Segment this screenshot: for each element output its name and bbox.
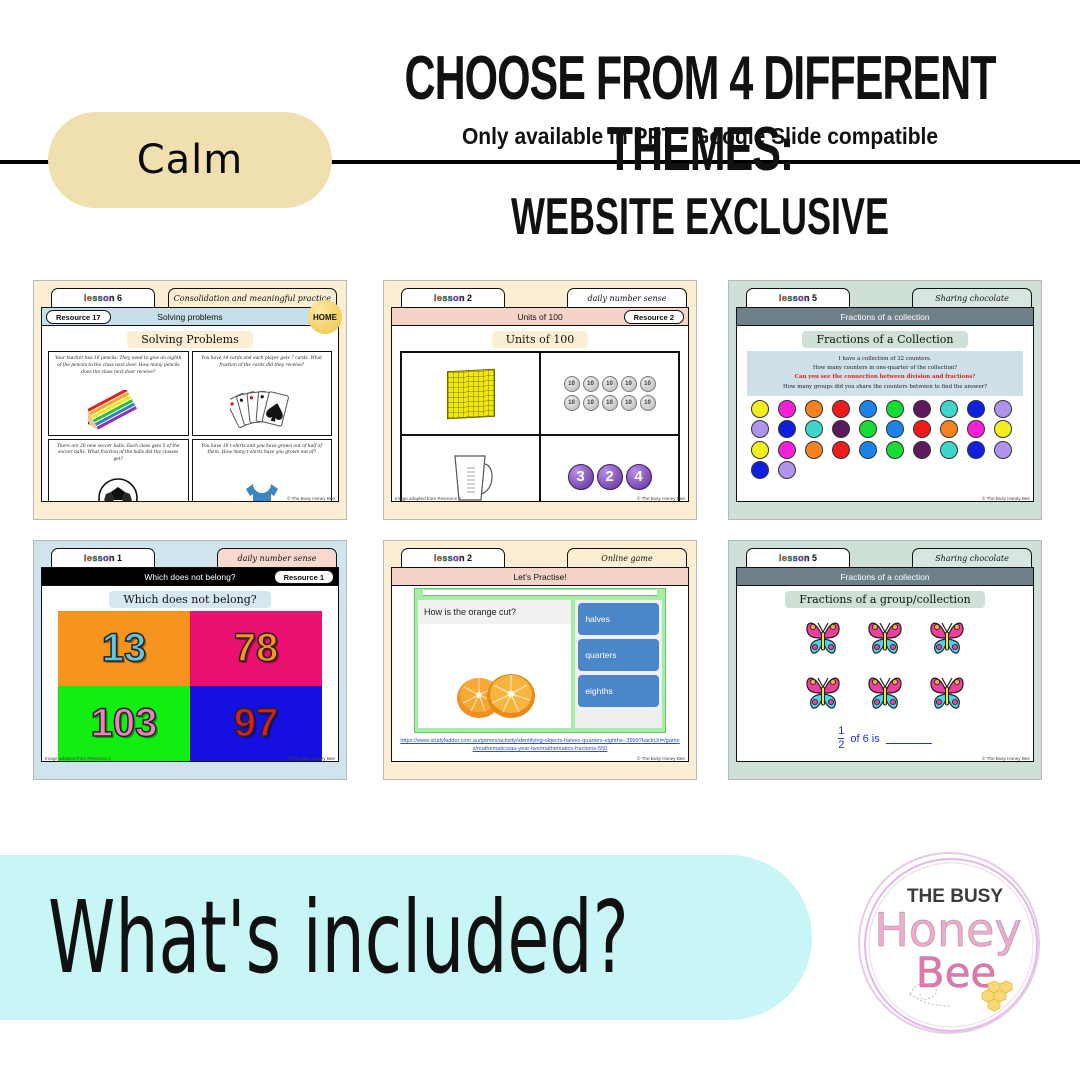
topic-tab: Sharing chocolate — [912, 548, 1032, 567]
content-title: Fractions of a group/collection — [785, 591, 985, 608]
slide-body: Fractions of a Collection I have a colle… — [736, 326, 1034, 502]
coin-icon: 10 — [621, 395, 637, 411]
lesson-label: lesson — [84, 293, 115, 303]
counter-icon — [751, 461, 769, 479]
counter-icon — [778, 461, 796, 479]
coin-icon: 10 — [602, 395, 618, 411]
problem-cell: You have 18 t-shirts and you have grown … — [192, 439, 333, 503]
counter-icon — [940, 400, 958, 418]
slide-body: How is the orange cut? — [391, 586, 689, 762]
topic-tab: Online game — [567, 548, 687, 567]
home-button[interactable]: HOME — [308, 300, 342, 334]
footer-left: Image adapted from Resource 1 — [45, 756, 111, 761]
lesson-tab: lesson 5 — [746, 288, 850, 307]
resource-pill[interactable]: Resource 17 — [46, 310, 111, 324]
fraction-statement: 1 2 of 6 is — [737, 726, 1033, 751]
slide-footer: © The Busy Honey Bee — [392, 756, 688, 761]
playing-cards-icon — [193, 386, 332, 432]
counter-icon — [751, 400, 769, 418]
game-screenshot: How is the orange cut? — [414, 588, 666, 733]
problem-cell: You have 14 cards and each player gets 7… — [192, 351, 333, 436]
mab-block-cell — [401, 352, 540, 435]
slide-footer: © The Busy Honey Bee — [737, 496, 1033, 501]
measuring-jug-cell — [401, 435, 540, 502]
big-number: 13 — [102, 626, 147, 671]
counter-icon — [832, 420, 850, 438]
game-question: How is the orange cut? — [418, 600, 571, 624]
big-number: 97 — [234, 701, 279, 746]
counter-icon — [994, 400, 1012, 418]
counter-icon — [859, 420, 877, 438]
lesson-tab: lesson 5 — [746, 548, 850, 567]
counter-icon — [994, 441, 1012, 459]
number-quadrant-grid: 137810397 — [58, 611, 322, 761]
topic-tab: Sharing chocolate — [912, 288, 1032, 307]
coin-icon: 10 — [564, 395, 580, 411]
topic-tab: daily number sense — [217, 548, 337, 567]
lesson-label: lesson — [434, 553, 465, 563]
website-exclusive-label: WEBSITE EXCLUSIVE — [340, 186, 1060, 247]
topic-tab-label: Sharing chocolate — [935, 554, 1009, 563]
problem-text: You have 18 t-shirts and you have grown … — [197, 444, 328, 458]
counter-icon — [913, 441, 931, 459]
butterfly-icon — [864, 671, 906, 720]
slide-banner: Fractions of a collection — [736, 307, 1034, 326]
slide-footer: Image adapted from Resource 2 © The Busy… — [392, 496, 688, 501]
counter-icon — [805, 400, 823, 418]
number-ball: 2 — [597, 464, 623, 490]
slide-footer: © The Busy Honey Bee — [42, 496, 338, 501]
problem-text: There are 20 new soccer balls. Each clas… — [53, 444, 184, 464]
counter-icon — [751, 420, 769, 438]
counter-icon — [886, 441, 904, 459]
lesson-tab: lesson 1 — [51, 548, 155, 567]
number-balls-cell: 3 2 4 — [540, 435, 679, 502]
question-line: How many counters in one-quarter of the … — [753, 364, 1017, 373]
header-section: Calm CHOOSE FROM 4 DIFFERENT THEMES: Onl… — [0, 0, 1080, 250]
number-ball: 3 — [568, 464, 594, 490]
game-options-panel: halves quarters eighths — [575, 600, 662, 728]
fraction-icon: 1 2 — [838, 726, 844, 751]
coins-cell: 10 10 10 10 10 10 10 10 10 10 — [540, 352, 679, 435]
slide-tabs: lesson 5 Sharing chocolate — [736, 288, 1034, 307]
counter-icon — [832, 400, 850, 418]
footer-copyright: © The Busy Honey Bee — [982, 496, 1030, 501]
lesson-number: 6 — [117, 293, 122, 303]
problem-grid: Your teacher has 16 pencils. They need t… — [48, 351, 332, 502]
hundreds-block-icon — [447, 368, 495, 419]
lesson-number: 2 — [467, 293, 472, 303]
whats-included-label: What's included? — [48, 879, 629, 995]
slide-banner: Fractions of a collection — [736, 567, 1034, 586]
resource-pill[interactable]: Resource 2 — [624, 310, 684, 324]
slide-card-fractions-of-a-collection[interactable]: lesson 5 Sharing chocolate Fractions of … — [728, 280, 1042, 520]
counter-icon — [940, 420, 958, 438]
lesson-number: 2 — [467, 553, 472, 563]
banner-title: Let's Practise! — [513, 572, 566, 582]
brand-logo: THE BUSY Honey Bee — [858, 852, 1040, 1034]
banner-title: Fractions of a collection — [840, 572, 929, 582]
counter-icon — [994, 420, 1012, 438]
counter-icon — [967, 420, 985, 438]
lesson-label: lesson — [779, 293, 810, 303]
slide-card-solving-problems[interactable]: lesson 6 Consolidation and meaningful pr… — [33, 280, 347, 520]
lesson-label: lesson — [434, 293, 465, 303]
question-line: How many groups did you share the counte… — [753, 383, 1017, 392]
slide-body: Fractions of a group/collection — [736, 586, 1034, 762]
resource-pill[interactable]: Resource 1 — [274, 570, 334, 584]
measuring-jug-icon — [445, 448, 497, 503]
topic-tab-label: daily number sense — [237, 554, 316, 563]
footer-copyright: © The Busy Honey Bee — [982, 756, 1030, 761]
coin-icon: 10 — [621, 376, 637, 392]
slide-body: Solving Problems Your teacher has 16 pen… — [41, 326, 339, 502]
counter-icon — [751, 441, 769, 459]
slide-card-online-game[interactable]: lesson 2 Online game Let's Practise! How… — [383, 540, 697, 780]
topic-tab-label: Online game — [601, 554, 652, 563]
problem-cell: Your teacher has 16 pencils. They need t… — [48, 351, 189, 436]
number-ball: 4 — [626, 464, 652, 490]
slide-banner: Units of 100 Resource 2 — [391, 307, 689, 326]
lesson-label: lesson — [84, 553, 115, 563]
counter-icon — [805, 420, 823, 438]
orange-halves-icon — [418, 662, 571, 720]
big-number: 78 — [234, 626, 279, 671]
slide-preview-grid: lesson 6 Consolidation and meaningful pr… — [0, 275, 1080, 820]
butterfly-icon — [802, 616, 844, 665]
lesson-number: 5 — [812, 293, 817, 303]
game-url-link[interactable]: https://www.studyladder.com.au/games/act… — [400, 737, 680, 754]
coin-icon: 10 — [583, 395, 599, 411]
counter-icon — [886, 420, 904, 438]
counter-icon — [913, 400, 931, 418]
topic-tab: Consolidation and meaningful practice — [168, 288, 337, 307]
lesson-number: 5 — [812, 553, 817, 563]
banner-title: Solving problems — [157, 312, 222, 322]
lesson-number: 1 — [117, 553, 122, 563]
answer-blank[interactable] — [886, 733, 932, 744]
slide-tabs: lesson 2 daily number sense — [391, 288, 689, 307]
butterfly-grid — [795, 616, 975, 720]
fraction-denominator: 2 — [838, 738, 844, 751]
theme-badge-label: Calm — [137, 137, 244, 183]
counter-icon — [913, 420, 931, 438]
counter-icon — [778, 441, 796, 459]
problem-cell: There are 20 new soccer balls. Each clas… — [48, 439, 189, 503]
slide-banner: Let's Practise! — [391, 567, 689, 586]
counter-icon — [886, 400, 904, 418]
butterfly-icon — [926, 671, 968, 720]
topic-tab-label: daily number sense — [587, 294, 666, 303]
slide-footer: © The Busy Honey Bee — [737, 756, 1033, 761]
counter-icon — [778, 420, 796, 438]
lesson-tab: lesson 2 — [401, 548, 505, 567]
banner-title: Fractions of a collection — [840, 312, 929, 322]
banner-title: Which does not belong? — [144, 572, 235, 582]
butterfly-icon — [864, 616, 906, 665]
content-title: Fractions of a Collection — [802, 331, 967, 348]
game-toolbar — [423, 590, 657, 596]
counter-icon — [859, 441, 877, 459]
slide-tabs: lesson 2 Online game — [391, 548, 689, 567]
pencils-icon — [49, 386, 188, 432]
coin-icon: 10 — [640, 376, 656, 392]
number-cell: 97 — [190, 686, 322, 761]
number-ball-group: 3 2 4 — [568, 464, 652, 490]
counter-icon — [778, 400, 796, 418]
big-number: 103 — [91, 701, 158, 746]
content-title: Solving Problems — [127, 331, 252, 348]
topic-tab: daily number sense — [567, 288, 687, 307]
slide-card-units-of-100[interactable]: lesson 2 daily number sense Units of 100… — [383, 280, 697, 520]
game-option-button[interactable]: eighths — [578, 675, 659, 707]
lesson-tab: lesson 2 — [401, 288, 505, 307]
coin-group: 10 10 10 10 10 10 10 10 10 10 — [564, 376, 656, 411]
slide-tabs: lesson 1 daily number sense — [41, 548, 339, 567]
slide-body: Units of 100 10 10 10 10 10 10 10 — [391, 326, 689, 502]
coin-icon: 10 — [640, 395, 656, 411]
slide-banner: Which does not belong? Resource 1 — [41, 567, 339, 586]
game-option-button[interactable]: quarters — [578, 639, 659, 671]
butterfly-icon — [802, 671, 844, 720]
slide-footer: Image adapted from Resource 1 © The Busy… — [42, 756, 338, 761]
footer-copyright: © The Busy Honey Bee — [637, 756, 685, 761]
question-box: I have a collection of 32 counters. How … — [747, 351, 1023, 396]
counter-grid — [751, 400, 1019, 480]
coin-icon: 10 — [583, 376, 599, 392]
page-subtitle: Only available in PPT - Google Slide com… — [340, 124, 1060, 151]
counter-icon — [940, 441, 958, 459]
footer-copyright: © The Busy Honey Bee — [287, 496, 335, 501]
lesson-label: lesson — [779, 553, 810, 563]
problem-text: You have 14 cards and each player gets 7… — [197, 356, 328, 370]
coin-icon: 10 — [602, 376, 618, 392]
theme-badge: Calm — [48, 112, 332, 208]
counter-icon — [832, 441, 850, 459]
game-option-button[interactable]: halves — [578, 603, 659, 635]
topic-tab-label: Sharing chocolate — [935, 294, 1009, 303]
number-cell: 103 — [58, 686, 190, 761]
counter-icon — [967, 400, 985, 418]
slide-banner: Resource 17 Solving problems — [41, 307, 339, 326]
slide-tabs: lesson 5 Sharing chocolate — [736, 548, 1034, 567]
number-cell: 78 — [190, 611, 322, 686]
content-title: Units of 100 — [492, 331, 589, 348]
logo-line3: Bee — [916, 948, 997, 997]
banner-title: Units of 100 — [517, 312, 562, 322]
footer-left: Image adapted from Resource 2 — [395, 496, 461, 501]
slide-card-which-does-not-belong[interactable]: lesson 1 daily number sense Which does n… — [33, 540, 347, 780]
content-title: Which does not belong? — [109, 591, 270, 608]
butterfly-icon — [926, 616, 968, 665]
page-title: CHOOSE FROM 4 DIFFERENT THEMES: — [340, 44, 1060, 186]
fraction-numerator: 1 — [838, 726, 844, 738]
fraction-text: of 6 is — [850, 733, 879, 745]
question-line-highlight: Can you see the connection between divis… — [753, 373, 1017, 382]
number-cell: 13 — [58, 611, 190, 686]
counter-icon — [859, 400, 877, 418]
slide-card-fractions-of-a-group[interactable]: lesson 5 Sharing chocolate Fractions of … — [728, 540, 1042, 780]
lesson-tab: lesson 6 — [51, 288, 155, 307]
footer-copyright: © The Busy Honey Bee — [637, 496, 685, 501]
game-question-panel: How is the orange cut? — [418, 600, 571, 728]
question-line: I have a collection of 32 counters. — [753, 355, 1017, 364]
slide-body: Which does not belong? 137810397 Image a… — [41, 586, 339, 762]
topic-tab-label: Consolidation and meaningful practice — [174, 294, 331, 303]
counter-icon — [805, 441, 823, 459]
footer-copyright: © The Busy Honey Bee — [287, 756, 335, 761]
counter-icon — [967, 441, 985, 459]
representation-grid: 10 10 10 10 10 10 10 10 10 10 — [400, 351, 680, 502]
whats-included-banner: What's included? — [0, 855, 812, 1020]
coin-icon: 10 — [564, 376, 580, 392]
slide-tabs: lesson 6 Consolidation and meaningful pr… — [41, 288, 339, 307]
problem-text: Your teacher has 16 pencils. They need t… — [53, 356, 184, 376]
